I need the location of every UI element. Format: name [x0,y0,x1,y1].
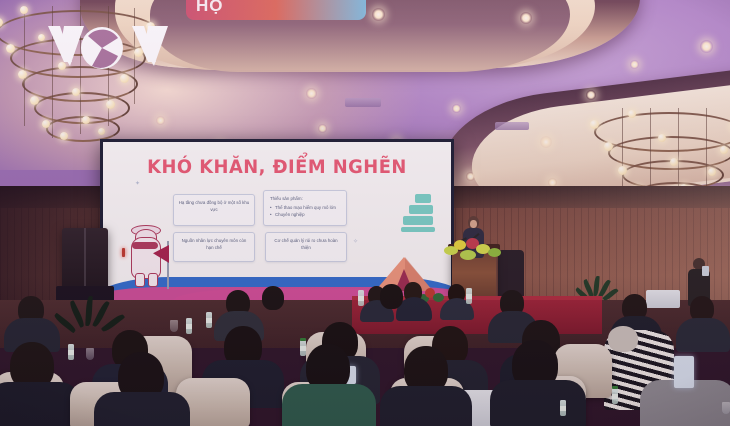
slide-box-1-text: Hạ tầng chưa đồng bộ ở một số khu vực [174,195,254,219]
ceiling-vent-3 [495,122,529,130]
slide-box-2-bullet-1: Thể thao mạo hiểm quy mô lớn [270,205,342,212]
attendee-body [380,386,472,426]
water-bottle [612,388,618,404]
attendee-head [380,284,403,309]
water-bottle [186,318,192,334]
presenter-face [470,220,477,228]
slide-content: KHÓ KHĂN, ĐIỂM NGHẼN ✦ ✧ Hạ tầng chưa đồ… [103,142,451,307]
vov-logo-watermark [34,22,174,84]
water-bottle [560,400,566,416]
attendee-head [262,286,284,310]
podium-flower-arrangement [442,236,504,262]
led-presentation-screen: KHÓ KHĂN, ĐIỂM NGHẼN ✦ ✧ Hạ tầng chưa đồ… [100,139,454,310]
drinking-glass [170,320,178,332]
city-blocks-icon [401,194,435,232]
conference-photo: HỘ [0,0,730,426]
slide-box-4: Cơ chế quản lý rủi ro chưa hoàn thiện [265,232,347,262]
phone-camera [702,266,709,276]
attendee-body [94,392,190,426]
slide-box-3-text: Nguồn nhân lực chuyên môn còn hạn chế [174,233,254,257]
ceiling-vent-1 [345,98,381,107]
slide-box-2: Thiếu sản phẩm: Thể thao mạo hiểm quy mô… [263,190,347,226]
attendee-body [282,384,376,426]
slide-box-2-bullet-2: Chuyên nghiệp [270,212,342,219]
water-bottle [300,340,306,356]
slide-box-1: Hạ tầng chưa đồng bộ ở một số khu vực [173,194,255,226]
attendee-head [608,326,638,352]
attendee-body [490,380,586,426]
sparkle-icon: ✦ [135,180,140,187]
water-bottle [206,312,212,328]
hiker-leg-right [148,273,158,287]
slide-title: KHÓ KHĂN, ĐIỂM NGHẼN [113,156,440,178]
water-bottle [68,344,74,360]
sparkle-icon: ✧ [353,238,358,245]
attendee-body [0,382,80,426]
bottle-cap [300,338,306,341]
smartphone[interactable] [674,356,694,388]
upper-screen-text: HỘ [196,0,224,16]
slide-box-4-text: Cơ chế quản lý rủi ro chưa hoàn thiện [266,233,346,257]
pa-speaker-seam [84,228,86,290]
hiker-scarf [132,242,158,249]
attendee-body [676,318,730,352]
water-bottle [358,290,364,306]
slide-box-3: Nguồn nhân lực chuyên môn còn hạn chế [173,232,255,262]
laptop[interactable] [646,290,680,308]
water-bottle [466,288,472,304]
slide-box-2-heading: Thiếu sản phẩm: [270,196,342,203]
hiker-leg-left [135,273,145,287]
drinking-glass [86,348,94,360]
slide-box-2-content: Thiếu sản phẩm: Thể thao mạo hiểm quy mô… [264,191,346,223]
wall-indicator-light [122,248,125,257]
foreground-plant [60,296,120,342]
bottle-cap [612,386,618,389]
drinking-glass [722,402,730,414]
